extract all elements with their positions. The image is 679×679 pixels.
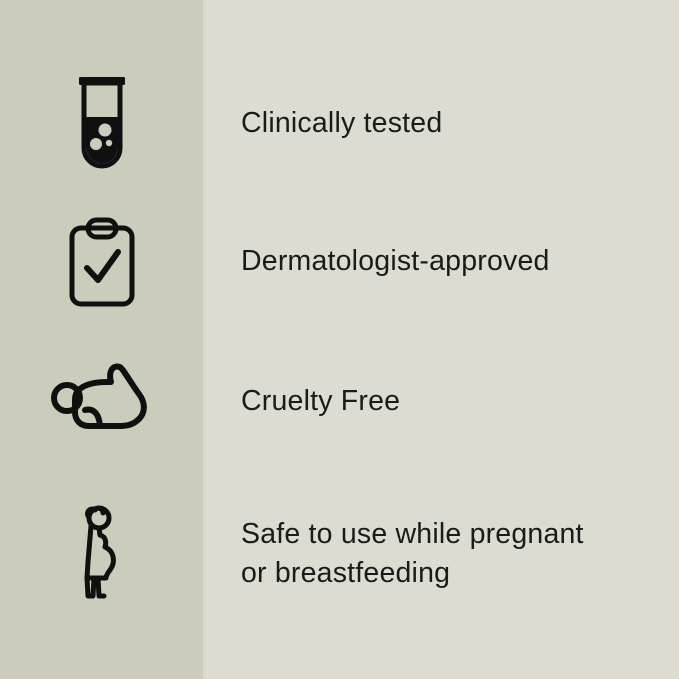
claim-text-cell: Safe to use while pregnant or breastfeed… [203, 490, 679, 618]
claim-text-cell: Clinically tested [203, 60, 679, 188]
claim-icon-cell [0, 490, 203, 618]
claim-row-pregnancy-safe: Safe to use while pregnant or breastfeed… [0, 490, 679, 618]
rabbit-icon [49, 362, 155, 442]
test-tube-icon [72, 73, 132, 175]
claim-label: Dermatologist-approved [241, 242, 550, 281]
claim-icon-cell [0, 60, 203, 188]
claim-row-dermatologist-approved: Dermatologist-approved [0, 198, 679, 326]
clipboard-check-icon [68, 216, 136, 308]
claim-row-cruelty-free: Cruelty Free [0, 338, 679, 466]
claim-icon-cell [0, 338, 203, 466]
claim-icon-cell [0, 198, 203, 326]
claim-text-cell: Cruelty Free [203, 338, 679, 466]
claim-label: Cruelty Free [241, 382, 400, 421]
claims-list: Clinically tested Dermatologis [0, 0, 679, 679]
claim-text-cell: Dermatologist-approved [203, 198, 679, 326]
pregnant-woman-icon [74, 504, 130, 604]
claim-row-clinically-tested: Clinically tested [0, 60, 679, 188]
claims-panel: Clinically tested Dermatologis [0, 0, 679, 679]
claim-label: Clinically tested [241, 104, 442, 143]
claim-label: Safe to use while pregnant or breastfeed… [241, 515, 584, 594]
